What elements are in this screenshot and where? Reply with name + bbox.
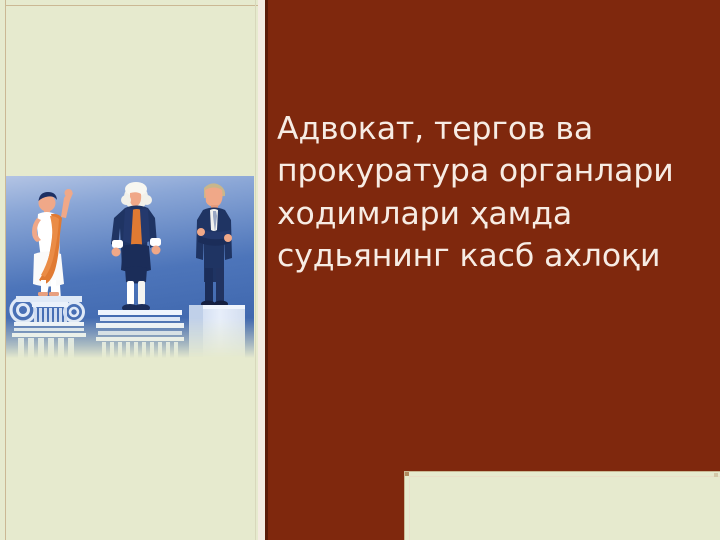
slide-canvas: Адвокат, тергов ва прокуратура органлари… xyxy=(0,0,720,540)
lawyers-illustration-artwork xyxy=(6,176,254,358)
frame-band-dark xyxy=(265,0,268,540)
plain-block-plinth xyxy=(189,305,245,358)
content-placeholder-inner xyxy=(409,476,720,540)
frame-rule-top xyxy=(5,5,260,6)
slide-title-block: Адвокат, тергов ва прокуратура органлари… xyxy=(277,108,697,277)
content-box-corner-marker-left xyxy=(405,472,409,476)
content-placeholder-box[interactable] xyxy=(404,471,720,540)
page-title: Адвокат, тергов ва прокуратура органлари… xyxy=(277,108,697,277)
frame-band-cream xyxy=(258,0,265,540)
content-box-corner-marker-right xyxy=(714,473,718,477)
frame-rule-inner xyxy=(255,0,256,540)
lawyers-illustration xyxy=(6,176,254,358)
